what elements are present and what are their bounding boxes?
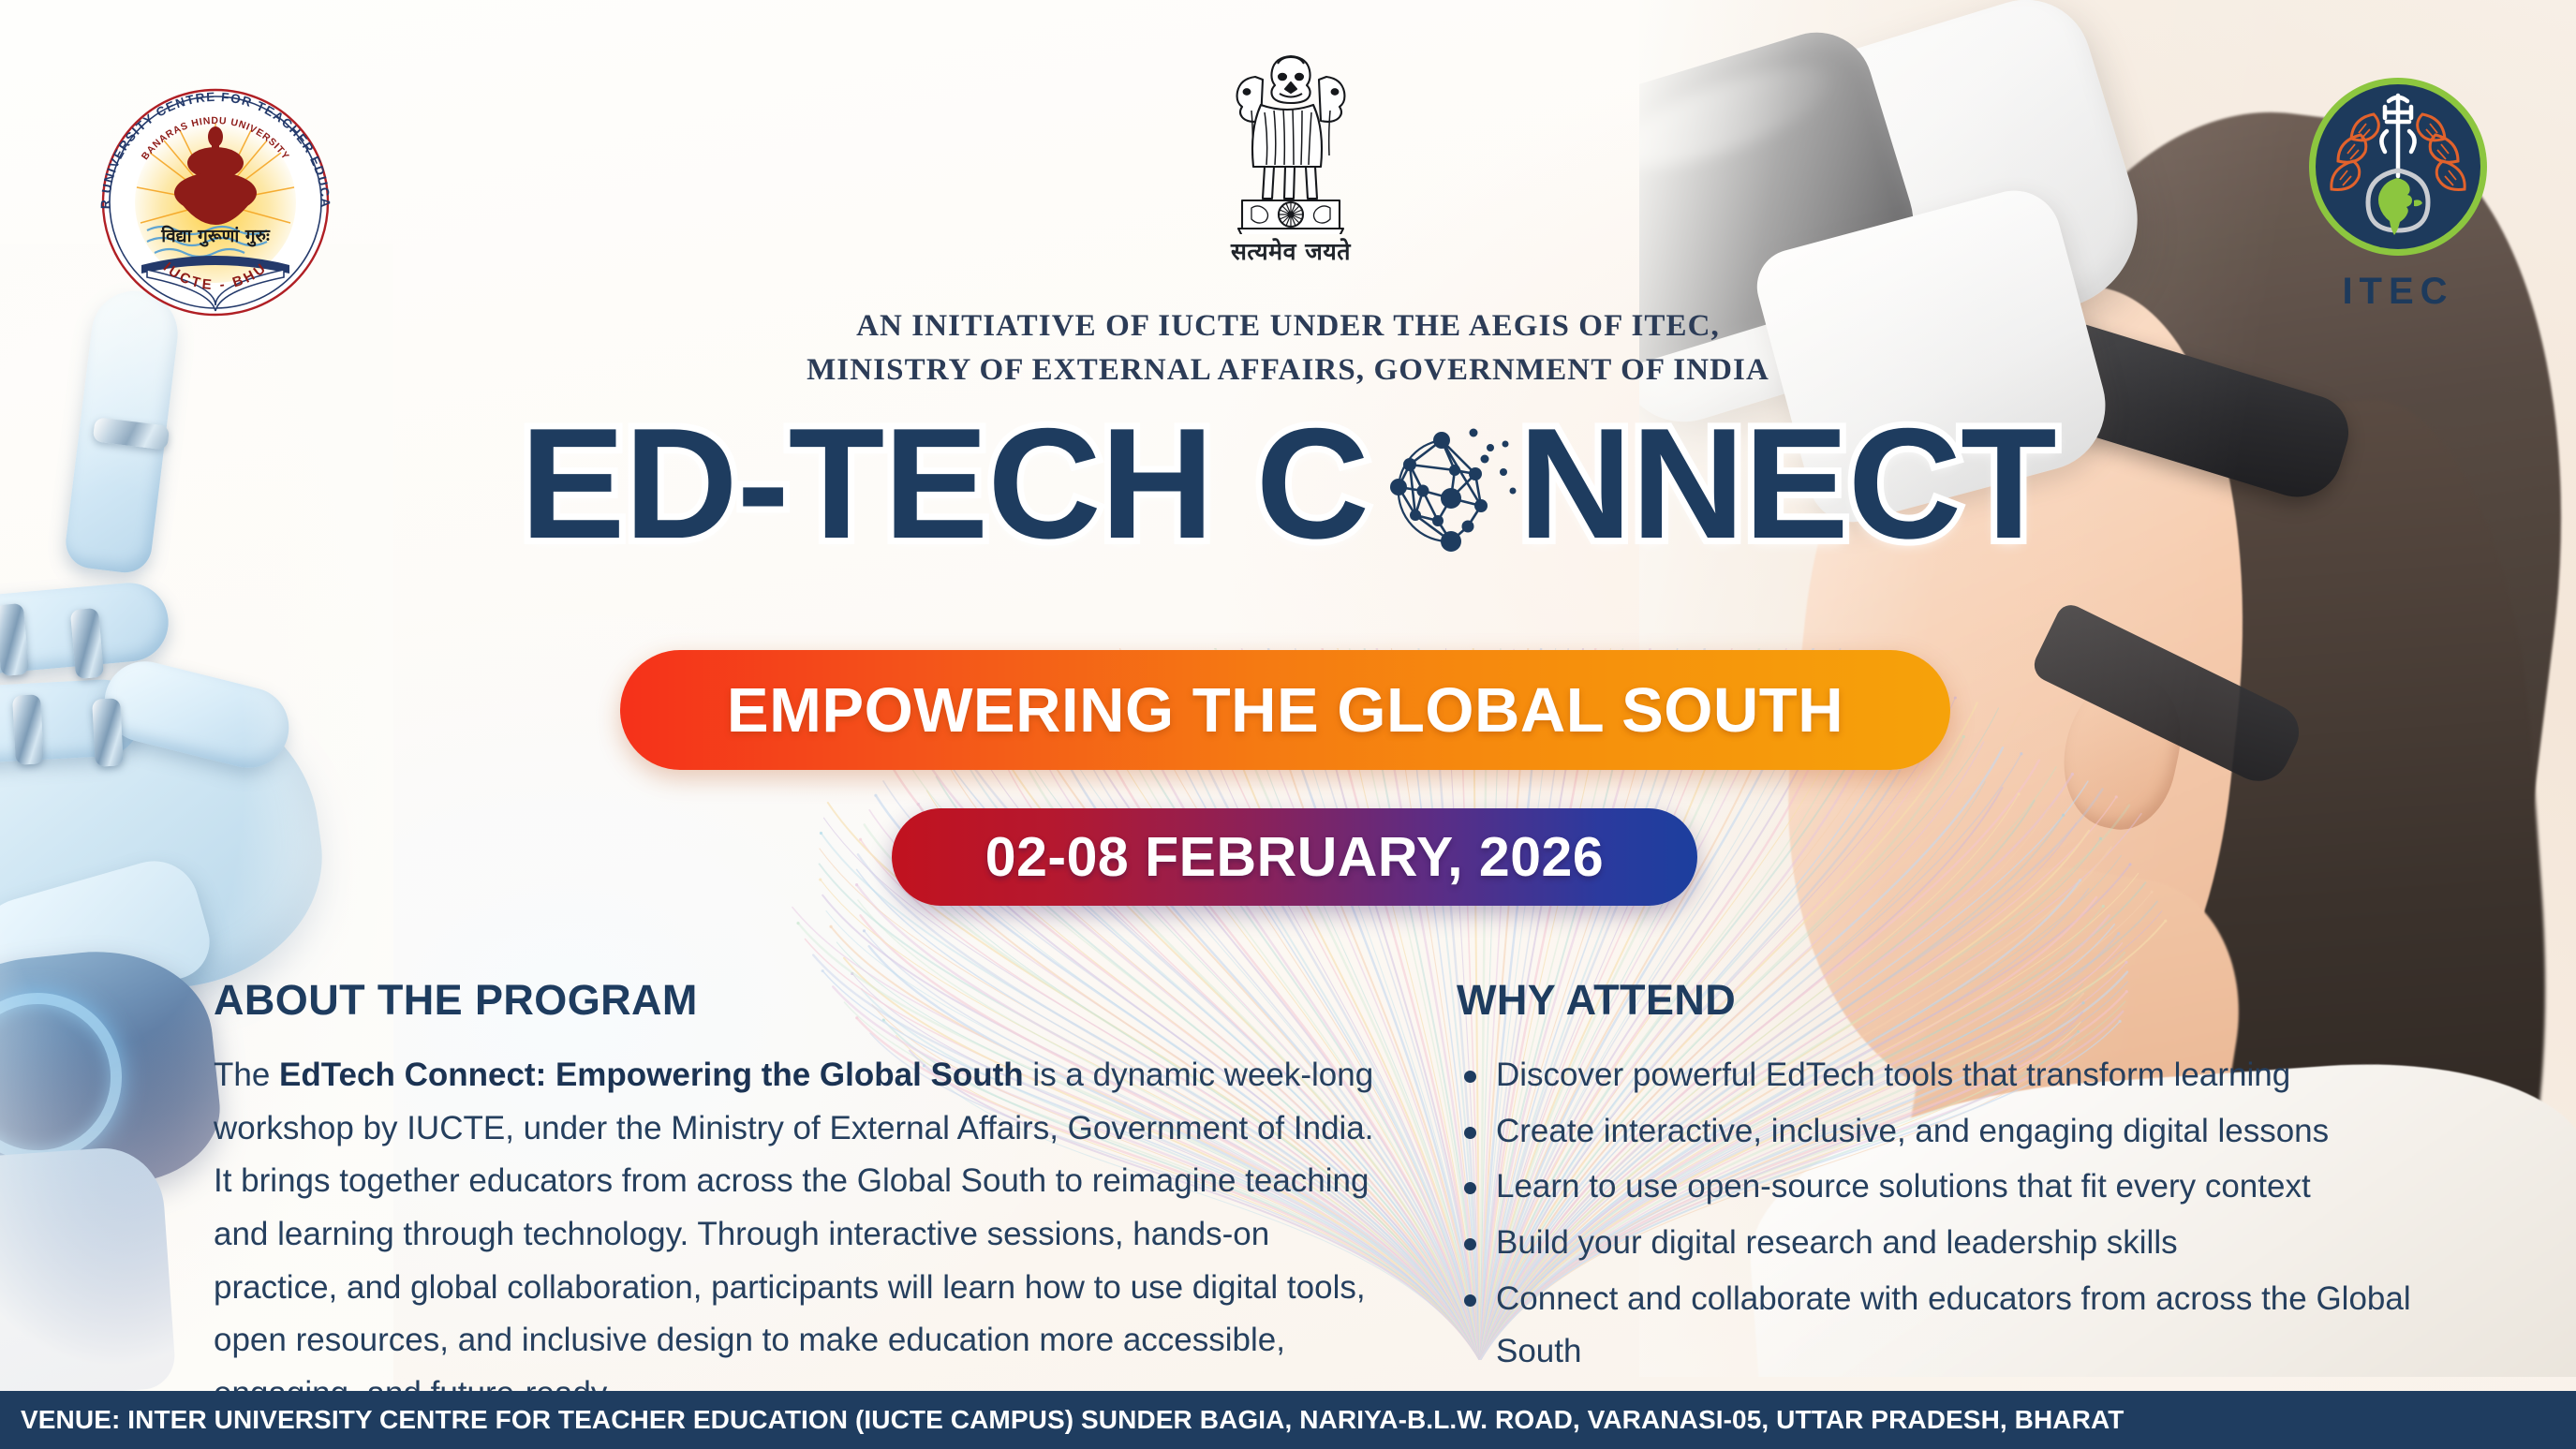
subtitle-text: EMPOWERING THE GLOBAL SOUTH bbox=[727, 674, 1843, 747]
state-emblem-of-india: सत्यमेव जयते bbox=[1197, 36, 1384, 270]
list-item: Learn to use open-source solutions that … bbox=[1457, 1161, 2496, 1214]
iucte-bhu-logo: विद्या गुरूणां गुरुः INTER UNIVERSITY CE… bbox=[89, 82, 342, 317]
subtitle-pill: EMPOWERING THE GLOBAL SOUTH bbox=[620, 650, 1950, 770]
initiative-line-1: AN INITIATIVE OF IUCTE UNDER THE AEGIS O… bbox=[0, 304, 2576, 348]
about-lead: The bbox=[214, 1057, 279, 1093]
venue-text: VENUE: INTER UNIVERSITY CENTRE FOR TEACH… bbox=[21, 1405, 2124, 1435]
initiative-line-2: MINISTRY OF EXTERNAL AFFAIRS, GOVERNMENT… bbox=[0, 348, 2576, 392]
why-attend-heading: WHY ATTEND bbox=[1457, 976, 2496, 1025]
about-section: ABOUT THE PROGRAM The EdTech Connect: Em… bbox=[214, 976, 1399, 1421]
why-attend-list: Discover powerful EdTech tools that tran… bbox=[1457, 1049, 2496, 1449]
about-rest: is a dynamic week-long workshop by IUCTE… bbox=[214, 1057, 1374, 1412]
initiative-header: AN INITIATIVE OF IUCTE UNDER THE AEGIS O… bbox=[0, 304, 2576, 392]
list-item: Build your digital research and leadersh… bbox=[1457, 1217, 2496, 1270]
about-body: The EdTech Connect: Empowering the Globa… bbox=[214, 1049, 1399, 1421]
main-title: ED-TECH C bbox=[0, 405, 2576, 583]
network-nodes-icon bbox=[1365, 405, 1522, 562]
about-heading: ABOUT THE PROGRAM bbox=[214, 976, 1399, 1025]
title-part-2: NNECT bbox=[1518, 405, 2056, 562]
list-item: Discover powerful EdTech tools that tran… bbox=[1457, 1049, 2496, 1102]
about-bold-title: EdTech Connect: Empowering the Global So… bbox=[279, 1057, 1024, 1093]
itec-logo: ITEC bbox=[2290, 73, 2506, 317]
emblem-motto: सत्यमेव जयते bbox=[1197, 235, 1384, 267]
title-part-1: ED-TECH C bbox=[520, 405, 1369, 562]
date-text: 02-08 FEBRUARY, 2026 bbox=[985, 825, 1604, 889]
date-pill: 02-08 FEBRUARY, 2026 bbox=[892, 808, 1697, 906]
poster-root: विद्या गुरूणां गुरुः INTER UNIVERSITY CE… bbox=[0, 0, 2576, 1449]
why-attend-section: WHY ATTEND Discover powerful EdTech tool… bbox=[1457, 976, 2496, 1449]
venue-bar: VENUE: INTER UNIVERSITY CENTRE FOR TEACH… bbox=[0, 1391, 2576, 1449]
svg-text:विद्या गुरूणां गुरुः: विद्या गुरूणां गुरुः bbox=[160, 225, 271, 247]
list-item: Connect and collaborate with educators f… bbox=[1457, 1273, 2496, 1379]
list-item: Create interactive, inclusive, and engag… bbox=[1457, 1105, 2496, 1159]
